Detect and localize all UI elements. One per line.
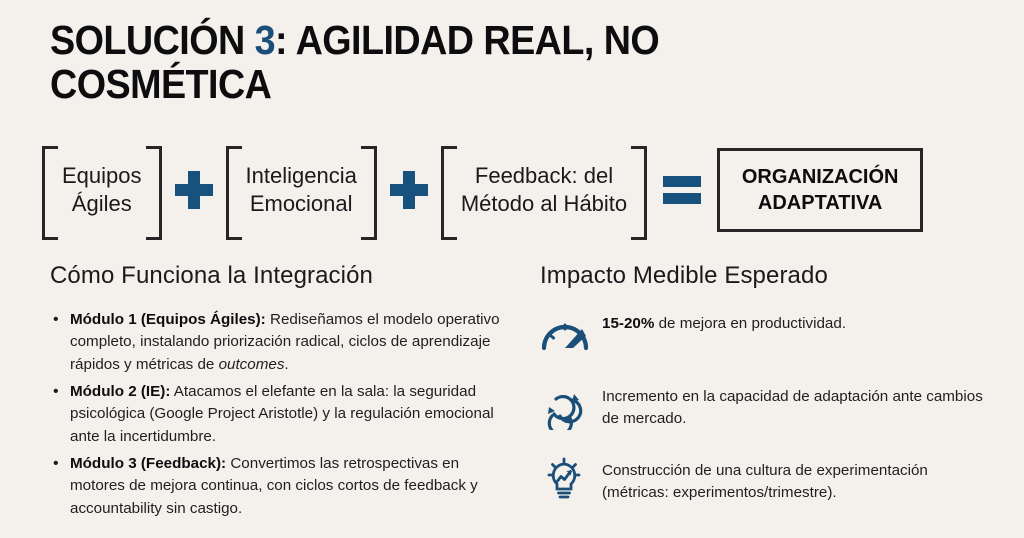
formula-result-line1: ORGANIZACIÓN — [742, 166, 899, 188]
list-item: Módulo 3 (Feedback): Convertimos las ret… — [50, 453, 510, 520]
list-item: Módulo 2 (IE): Atacamos el elefante en l… — [50, 381, 510, 448]
integration-bullet-list: Módulo 1 (Equipos Ágiles): Rediseñamos e… — [50, 309, 510, 520]
plus-icon-2 — [390, 171, 428, 209]
bullet-3-label: Módulo 3 (Feedback): — [70, 455, 226, 472]
title-line1-before: SOLUCIÓN — [50, 17, 255, 63]
formula-term-3-text: Feedback: del Método al Hábito — [461, 162, 627, 218]
impact-item-2-rest: Incremento en la capacidad de adaptación… — [602, 388, 983, 427]
formula-term-3-line2: Método al Hábito — [461, 191, 627, 216]
impact-item-1-rest: de mejora en productividad. — [654, 315, 846, 332]
formula-term-1-text: Equipos Ágiles — [62, 162, 142, 218]
formula-term-3-line1: Feedback: del — [475, 163, 613, 188]
bullet-1-text-tail: . — [284, 356, 288, 373]
formula-term-3: Feedback: del Método al Hábito — [441, 146, 647, 234]
impact-item-3: Construcción de una cultura de experimen… — [540, 456, 995, 505]
speedometer-icon — [540, 309, 602, 357]
title-line2: COSMÉTICA — [50, 61, 271, 107]
left-column-heading: Cómo Funciona la Integración — [50, 262, 510, 290]
formula-result-box: ORGANIZACIÓN ADAPTATIVA — [717, 148, 923, 232]
equals-icon — [663, 175, 701, 205]
right-column: Impacto Medible Esperado 15-20% de mejor… — [540, 262, 995, 529]
left-column: Cómo Funciona la Integración Módulo 1 (E… — [50, 262, 510, 525]
impact-item-3-rest: Construcción de una cultura de experimen… — [602, 462, 928, 501]
formula-result-text: ORGANIZACIÓN ADAPTATIVA — [742, 164, 899, 216]
formula-term-2: Inteligencia Emocional — [226, 146, 377, 234]
recycle-arrows-icon — [540, 382, 602, 430]
formula-term-2-line2: Emocional — [250, 191, 353, 216]
formula-term-2-line1: Inteligencia — [246, 163, 357, 188]
impact-item-2: Incremento en la capacidad de adaptación… — [540, 382, 995, 431]
lightbulb-growth-icon — [540, 456, 602, 504]
title-accent-number: 3 — [255, 17, 275, 63]
slide-root: SOLUCIÓN 3: AGILIDAD REAL, NO COSMÉTICA … — [0, 0, 1024, 538]
formula-term-2-text: Inteligencia Emocional — [246, 162, 357, 218]
bullet-1-label: Módulo 1 (Equipos Ágiles): — [70, 311, 266, 328]
formula-result-line2: ADAPTATIVA — [758, 192, 882, 214]
bullet-2-label: Módulo 2 (IE): — [70, 383, 170, 400]
page-title: SOLUCIÓN 3: AGILIDAD REAL, NO COSMÉTICA — [50, 18, 749, 107]
impact-item-2-text: Incremento en la capacidad de adaptación… — [602, 382, 995, 431]
title-line1-after: : AGILIDAD REAL, NO — [275, 17, 659, 63]
impact-item-3-text: Construcción de una cultura de experimen… — [602, 456, 995, 505]
formula-term-1: Equipos Ágiles — [42, 146, 162, 234]
right-column-heading: Impacto Medible Esperado — [540, 262, 995, 290]
impact-item-1-text: 15-20% de mejora en productividad. — [602, 309, 846, 335]
impact-item-1-bold: 15-20% — [602, 315, 654, 332]
formula-row: Equipos Ágiles Inteligencia Emocional Fe… — [42, 145, 982, 235]
formula-term-1-line1: Equipos — [62, 163, 142, 188]
bullet-1-italic: outcomes — [219, 356, 285, 373]
list-item: Módulo 1 (Equipos Ágiles): Rediseñamos e… — [50, 309, 510, 376]
formula-term-1-line2: Ágiles — [72, 191, 132, 216]
plus-icon-1 — [175, 171, 213, 209]
impact-item-1: 15-20% de mejora en productividad. — [540, 309, 995, 357]
